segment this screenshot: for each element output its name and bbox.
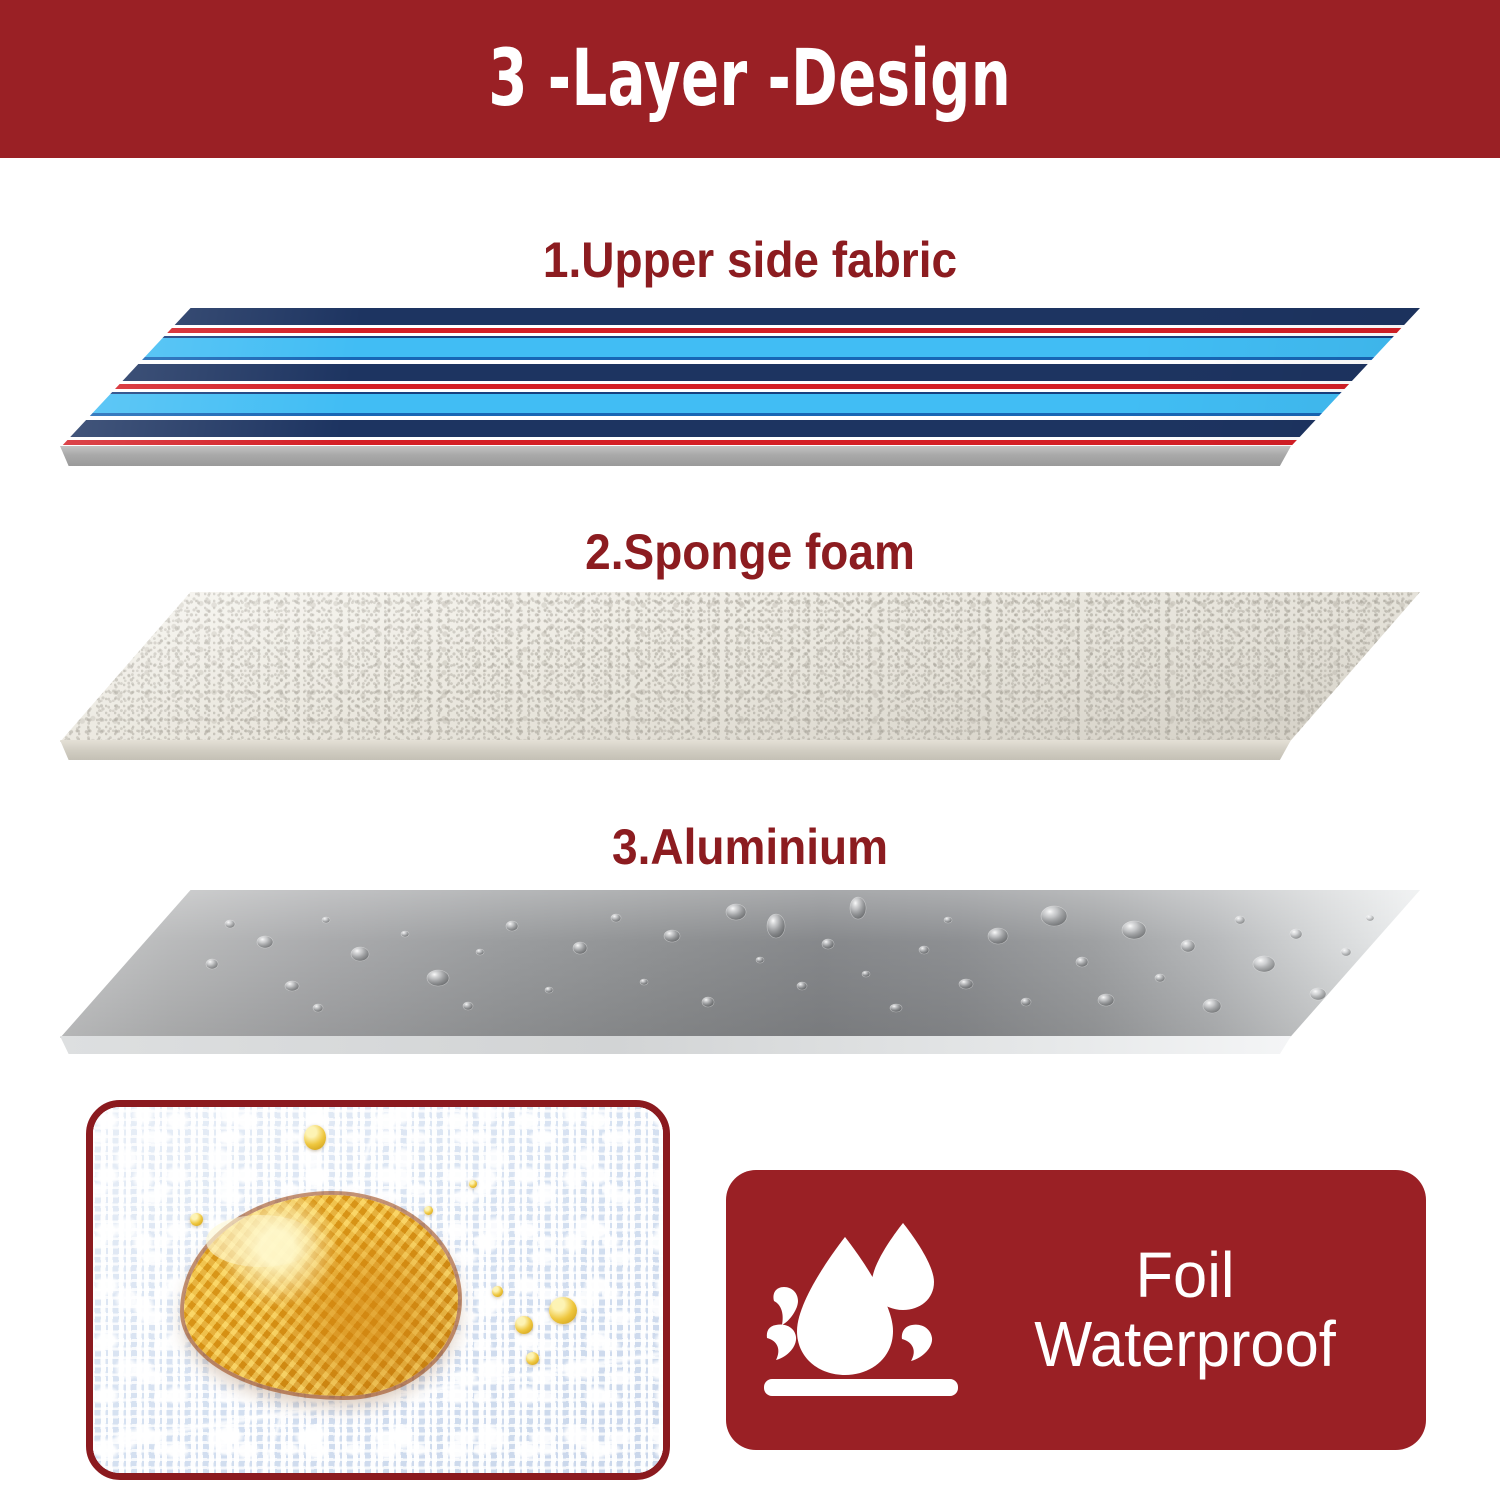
amber-droplet [190, 1213, 203, 1226]
honey-spill-photo [86, 1100, 670, 1480]
badge-line-2: Waterproof [981, 1310, 1390, 1379]
header-banner: 3 -Layer -Design [0, 0, 1500, 158]
badge-text-block: Foil Waterproof [981, 1241, 1390, 1379]
layer-1-label: 1.Upper side fabric [60, 231, 1440, 289]
amber-droplet [304, 1125, 326, 1150]
amber-droplet [424, 1206, 433, 1215]
foil-waterproof-badge: Foil Waterproof [726, 1170, 1426, 1450]
aluminium-slab-side-edge [60, 1036, 1291, 1054]
fabric-stripes-surface [60, 308, 1420, 448]
foam-slab-side-edge [60, 740, 1291, 760]
waterproof-droplet-icon [762, 1213, 972, 1408]
badge-line-1: Foil [981, 1241, 1390, 1310]
infographic-canvas: 3 -Layer -Design 1.Upper side fabric 2.S… [0, 0, 1500, 1500]
aluminium-slab [60, 890, 1420, 1038]
layer-2-label: 2.Sponge foam [60, 523, 1440, 581]
waterproof-icon-svg [762, 1213, 972, 1408]
page-title: 3 -Layer -Design [489, 40, 1012, 118]
aluminium-metal-surface [60, 890, 1420, 1038]
fabric-slab-side-edge [60, 446, 1291, 466]
upper-side-fabric-slab [60, 308, 1420, 448]
layer-3-label: 3.Aluminium [60, 818, 1440, 876]
amber-droplet [515, 1316, 533, 1334]
sponge-foam-slab [60, 592, 1420, 742]
amber-liquid-blob [184, 1195, 458, 1396]
foam-texture-surface [60, 592, 1420, 742]
